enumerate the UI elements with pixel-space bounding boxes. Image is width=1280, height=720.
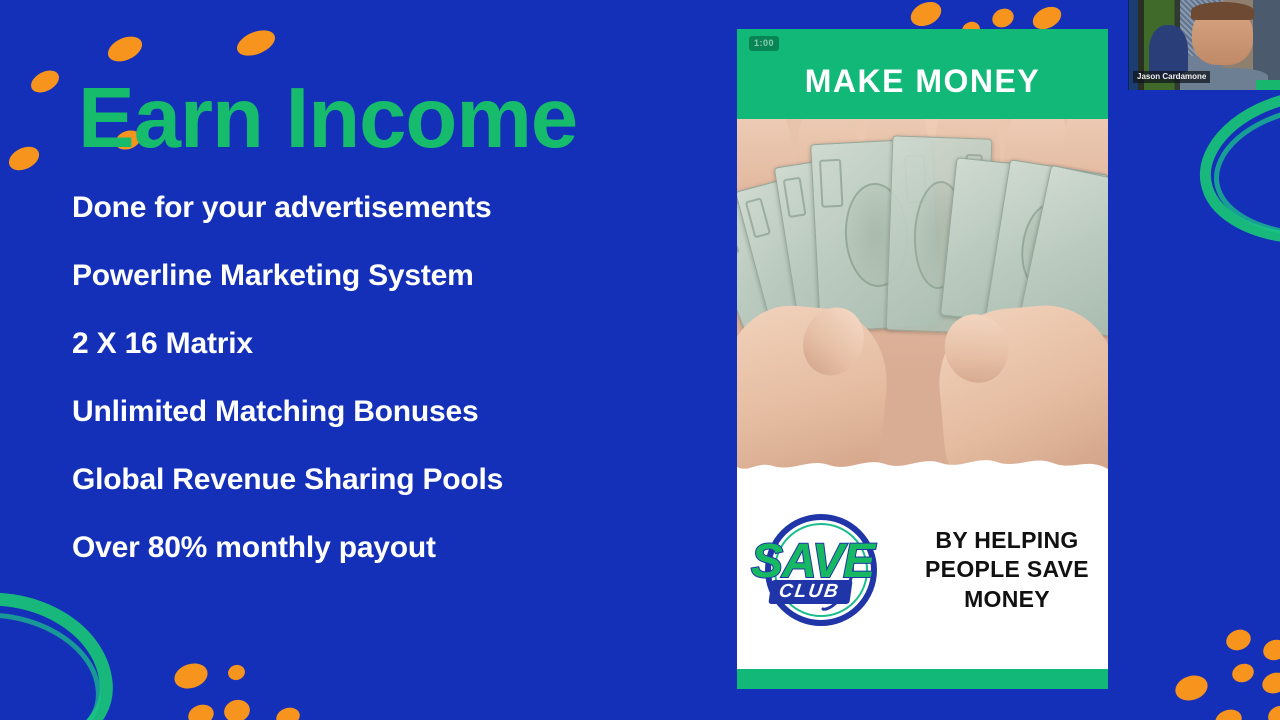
list-item: Done for your advertisements	[72, 193, 712, 223]
decor-dot	[233, 25, 278, 60]
webcam-overlay[interactable]: Jason Cardamone	[1128, 0, 1280, 90]
promo-video-card[interactable]: 1:00 MAKE MONEY	[737, 29, 1108, 689]
decor-dot	[1260, 636, 1280, 663]
list-item: Global Revenue Sharing Pools	[72, 465, 712, 495]
logo-save-text: SAVE	[751, 538, 913, 586]
decor-dot	[1265, 703, 1280, 720]
benefit-list: Done for your advertisements Powerline M…	[72, 193, 712, 601]
decor-dot	[5, 142, 43, 175]
decor-dot	[186, 701, 217, 720]
logo-club-text: CLUB	[768, 580, 852, 604]
decor-arc-right	[1184, 92, 1280, 242]
participant-name-label: Jason Cardamone	[1133, 71, 1210, 83]
decor-dot	[171, 659, 211, 692]
video-duration-badge: 1:00	[749, 36, 779, 51]
decor-dot	[221, 697, 252, 720]
list-item: Powerline Marketing System	[72, 261, 712, 291]
decor-dot	[27, 66, 62, 97]
card-green-footer	[737, 669, 1108, 689]
decor-dot	[226, 663, 247, 683]
decor-dot	[1213, 706, 1245, 720]
webcam-speaker-hair	[1191, 2, 1254, 20]
hands-holding-money-photo	[737, 119, 1108, 481]
decor-dot	[907, 0, 945, 31]
presentation-slide: Earn Income Done for your advertisements…	[0, 0, 1280, 720]
decor-dot	[1223, 626, 1253, 653]
page-title: Earn Income	[78, 76, 577, 163]
card-tagline: BY HELPING PEOPLE SAVE MONEY	[918, 526, 1108, 614]
decor-dot	[274, 705, 302, 720]
save-club-logo: SAVE CLUB	[743, 500, 918, 640]
decor-dot	[989, 5, 1016, 30]
list-item: Over 80% monthly payout	[72, 533, 712, 563]
webcam-green-corner	[1256, 80, 1280, 90]
list-item: 2 X 16 Matrix	[72, 329, 712, 359]
card-headline: MAKE MONEY	[737, 65, 1108, 97]
decor-dot	[1259, 669, 1280, 697]
torn-edge-bottom	[737, 445, 1108, 481]
decor-dot	[104, 32, 146, 67]
decor-dot	[1172, 671, 1211, 704]
card-logo-band: SAVE CLUB BY HELPING PEOPLE SAVE MONEY	[737, 481, 1108, 659]
decor-dot	[1230, 661, 1257, 685]
list-item: Unlimited Matching Bonuses	[72, 397, 712, 427]
